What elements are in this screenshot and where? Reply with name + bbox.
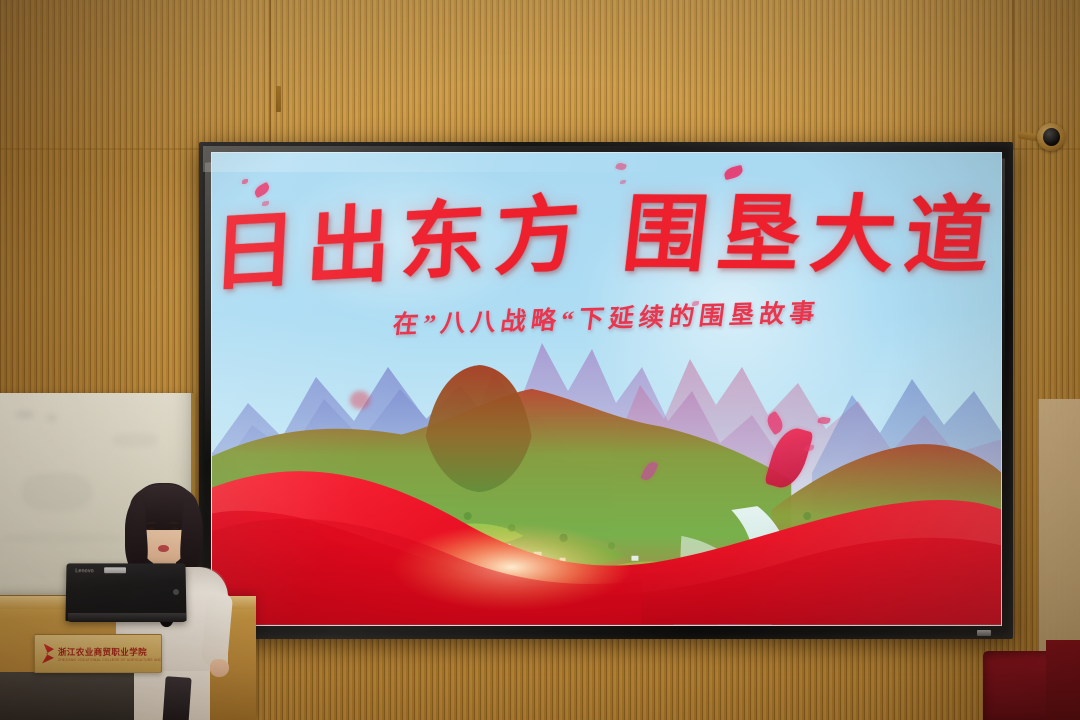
presenter-arm-right <box>201 592 233 668</box>
presentation-display[interactable]: 日出东方 围垦大道 在”八八战略“下延续的围垦故事 <box>199 142 1013 639</box>
institution-logo-icon <box>41 644 54 664</box>
laptop-badge <box>104 567 126 573</box>
petal <box>350 391 370 409</box>
bezel-led-indicator <box>977 630 991 636</box>
presentation-photo-scene: 日出东方 围垦大道 在”八八战略“下延续的围垦故事 L <box>0 0 1080 720</box>
presenter-skirt-shadow <box>162 676 191 720</box>
camera-lens <box>1043 128 1060 146</box>
institution-name-cn: 浙江农业商贸职业学院 <box>58 646 162 658</box>
wall-seam-vertical-left <box>269 0 271 150</box>
slide-canvas: 日出东方 围垦大道 在”八八战略“下延续的围垦故事 <box>211 152 1002 626</box>
institution-sign-text: 浙江农业商贸职业学院 ZHEJIANG VOCATIONAL COLLEGE O… <box>58 646 162 662</box>
auditorium-seat-secondary <box>1046 640 1080 720</box>
slide-red-ribbon <box>212 436 1001 625</box>
laptop-port <box>173 589 179 595</box>
wall-seam-vertical-right <box>1012 0 1014 150</box>
wall-hook <box>276 86 281 112</box>
presenter-mouth <box>158 545 169 552</box>
podium-institution-sign: 浙江农业商贸职业学院 ZHEJIANG VOCATIONAL COLLEGE O… <box>34 634 162 673</box>
presenter-hand <box>210 659 229 677</box>
wall-camera-icon <box>1037 123 1065 151</box>
laptop-brand-label: Lenovo <box>75 568 94 574</box>
institution-name-en: ZHEJIANG VOCATIONAL COLLEGE OF AGRICULTU… <box>58 658 162 662</box>
bezel-logo <box>958 629 969 637</box>
laptop-hinge <box>68 613 186 622</box>
